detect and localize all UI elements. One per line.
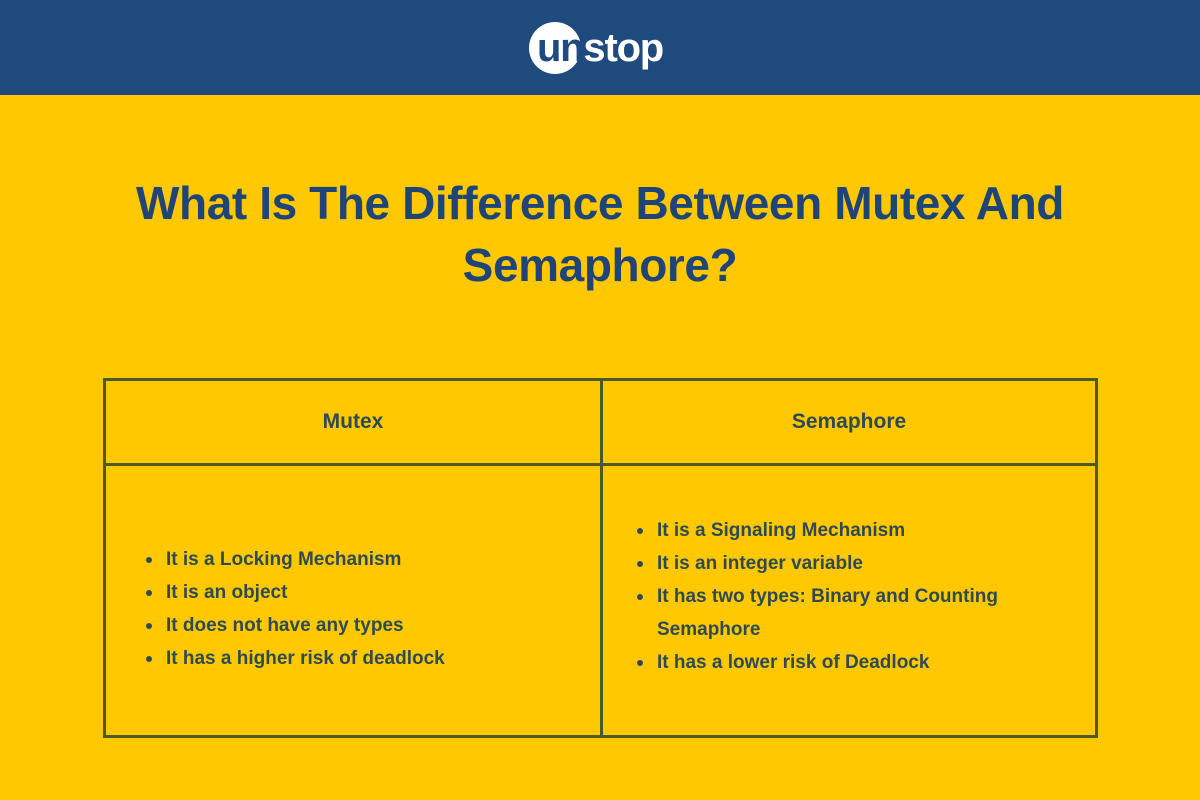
list-item: It is an object bbox=[144, 576, 544, 609]
logo-text-stop: stop bbox=[583, 26, 663, 70]
table-header-cell-mutex: Mutex bbox=[106, 381, 603, 463]
mutex-content: It is a Locking Mechanism It is an objec… bbox=[106, 466, 600, 735]
infographic-page: unstop What Is The Difference Between Mu… bbox=[0, 0, 1200, 800]
logo-wordmark: unstop bbox=[537, 22, 663, 74]
table-body-cell-mutex: It is a Locking Mechanism It is an objec… bbox=[106, 466, 603, 735]
list-item: It does not have any types bbox=[144, 609, 544, 642]
semaphore-bullet-list: It is a Signaling Mechanism It is an int… bbox=[635, 514, 1015, 679]
semaphore-content: It is a Signaling Mechanism It is an int… bbox=[603, 466, 1095, 735]
table-body-cell-semaphore: It is a Signaling Mechanism It is an int… bbox=[603, 466, 1095, 735]
list-item: It is a Locking Mechanism bbox=[144, 543, 544, 576]
brand-header-bar: unstop bbox=[0, 0, 1200, 95]
list-item: It is a Signaling Mechanism bbox=[635, 514, 1015, 547]
list-item: It has two types: Binary and Counting Se… bbox=[635, 580, 1015, 646]
table-header-cell-semaphore: Semaphore bbox=[603, 381, 1095, 463]
list-item: It has a lower risk of Deadlock bbox=[635, 646, 1015, 679]
table-header-row: Mutex Semaphore bbox=[106, 381, 1095, 466]
list-item: It is an integer variable bbox=[635, 547, 1015, 580]
mutex-bullet-list: It is a Locking Mechanism It is an objec… bbox=[144, 543, 544, 675]
unstop-logo[interactable]: unstop bbox=[537, 22, 663, 74]
table-body-row: It is a Locking Mechanism It is an objec… bbox=[106, 466, 1095, 735]
logo-text-un: un bbox=[537, 26, 583, 70]
header-label-semaphore: Semaphore bbox=[603, 381, 1095, 463]
comparison-table: Mutex Semaphore It is a Locking Mechanis… bbox=[103, 378, 1098, 738]
header-label-mutex: Mutex bbox=[106, 381, 600, 463]
list-item: It has a higher risk of deadlock bbox=[144, 642, 544, 675]
page-title: What Is The Difference Between Mutex And… bbox=[100, 172, 1100, 296]
